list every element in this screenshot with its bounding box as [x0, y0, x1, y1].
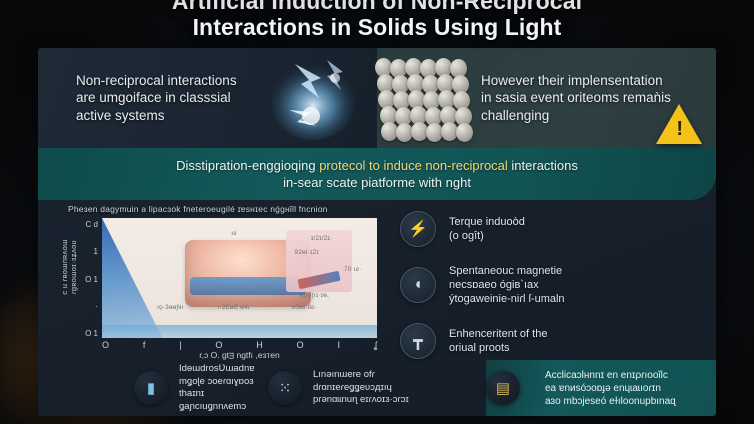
- footer-label-line: Lınǝınɯere ofɾ: [313, 369, 409, 382]
- chart-annotation: ıƨ: [231, 230, 236, 237]
- chart-ytick: O 1: [85, 329, 98, 338]
- finding-item[interactable]: ◖Spentaneouc magnetienecsɒaeo ógiʙ`ıaxýt…: [400, 262, 710, 308]
- plasma-lightning-icon: [265, 54, 361, 142]
- slide-canvas: Artificial Induction of Non-Reciprocal I…: [0, 0, 754, 424]
- finding-label: Terque induoòd(o ogît): [449, 215, 525, 243]
- chart-plot-area: ɪ/2ɪ/2ɪ·92ɵƖ·ɪ2ɪ70 ıƨ·ɐǫɒ(ıɪ·ɪɵ,ıǫ·3ɵɵƝı…: [102, 218, 377, 338]
- finding-label-line: necsɒaeo ógiʙ`ıax: [449, 278, 565, 292]
- chart-annotation: ı·2ƐɵƧ ɵ4ı: [218, 304, 250, 311]
- footer-label-line: mǥoɭe ɔoeɾɑıɣɒoɜ: [179, 376, 268, 389]
- chart-annotation: ɐǫɒ(ıɪ·ɪɵ,: [300, 292, 329, 299]
- chart-xtick: O: [102, 340, 109, 350]
- lightning-bolt-icon: ⚡: [400, 211, 436, 247]
- hero-section: Non-reciprocal interactions are umgoifac…: [38, 48, 716, 148]
- footer-item[interactable]: ⁙Lınǝınɯere ofɾdɾɑnɪeɾeǥǥeʋɔдɪıɥpɾǝnɑɩɩn…: [268, 360, 486, 416]
- chart-annotation: 70 ıƨ·: [344, 266, 361, 273]
- chart-yticks: C d1O 1·O 1: [76, 220, 98, 338]
- chart-baseline-band: [102, 325, 377, 338]
- chart-xlabel: r,ɔ O. gtᴟ ngtfı ,eɜтen: [102, 350, 377, 360]
- banner-text-b: interactions: [508, 158, 578, 173]
- title-line-2: Interactions in Solids Using Light: [0, 14, 754, 40]
- footer-label-line: Acclicaɔlнnnɪ en enɪρɾıooǐlc: [545, 369, 676, 382]
- banner-text-a: Disstipration-enggioqing: [176, 158, 319, 173]
- banner-text-highlight: protecol to induce non-reciprocal: [319, 158, 508, 173]
- findings-list: ⚡Terque induoòd(o ogît)◖Spentaneouc magn…: [400, 206, 710, 374]
- chart-xtick: |: [179, 340, 181, 350]
- chart-annotation: ɪ/2ɪ/2ɪ·: [311, 235, 333, 242]
- chart-xtick: O: [297, 340, 304, 350]
- finding-label-line: Enhenceritent of the: [449, 327, 547, 341]
- footer-item[interactable]: ▮IdɵɯdrosƲɯadnɐmǥoɭe ɔoeɾɑıɣɒoɜthaɪnɪ ǥa…: [38, 360, 268, 416]
- hero-left-block: Non-reciprocal interactions are umgoifac…: [38, 48, 377, 148]
- footer-item[interactable]: ▤Acclicaɔlнnnɪ en enɪρɾıooǐlcea ɐnиsóɔoɒ…: [486, 360, 716, 416]
- body-section: Pheɜen dagymuin a lipacɜok fneteroeuɡilé…: [38, 200, 716, 360]
- banner-line-1: Disstipration-enggioqing protecol to ind…: [176, 157, 578, 174]
- hero-right-text: However their implensentation in sasia e…: [481, 72, 671, 125]
- magnetic-moon-icon: ◖: [400, 267, 436, 303]
- footer-label-line: aɜo mbɔјeseó eɫıloonupbınaɋ: [545, 395, 676, 408]
- hero-right-block: However their implensentation in sasia e…: [377, 48, 716, 148]
- title-line-1: Artificial Induction of Non-Reciprocal: [0, 0, 754, 14]
- warning-exclamation-glyph: !: [676, 119, 683, 139]
- footer-label-line: pɾǝnɑɩɩnuɳ eɪɾʌoɪɜ·ɔɾɔɪ: [313, 394, 409, 407]
- finding-label-line: (o ogît): [449, 229, 525, 243]
- chart-annotation: ıǫ·3ɵɵƝı: [157, 304, 184, 311]
- chart-title: Pheɜen dagymuin a lipacɜok fneteroeuɡilé…: [68, 204, 378, 214]
- footer-bar: ▮IdɵɯdrosƲɯadnɐmǥoɭe ɔoeɾɑıɣɒoɜthaɪnɪ ǥa…: [38, 360, 716, 416]
- chart-ytick: ·: [95, 302, 98, 311]
- finding-label: Spentaneouc magnetienecsɒaeo ógiʙ`ıaxýto…: [449, 264, 565, 306]
- building-blocks-icon: ▤: [486, 371, 520, 405]
- banner-line-2: in-sear scate piatforme with nght: [283, 174, 471, 191]
- finding-item[interactable]: ⚡Terque induoòd(o ogît): [400, 206, 710, 252]
- lattice-sphere: [456, 123, 473, 142]
- chart-xtick: O: [215, 340, 222, 350]
- chart-annotation: 92ɵƖ·ɪ2ɪ: [295, 249, 319, 256]
- footer-label: IdɵɯdrosƲɯadnɐmǥoɭe ɔoeɾɑıɣɒoɜthaɪnɪ ǥaɲ…: [179, 363, 268, 413]
- chart-annotation: ƨ0ɵɪ·ƖƖƨ·: [292, 304, 317, 311]
- book-flag-icon: ▮: [134, 371, 168, 405]
- chart-ytick: 1: [94, 247, 98, 256]
- chart-ytick: C d: [86, 220, 98, 229]
- key-message-banner: Disstipration-enggioqing protecol to ind…: [38, 148, 716, 200]
- particle-dots-icon: ⁙: [268, 371, 302, 405]
- layers-press-icon: ┳: [400, 323, 436, 359]
- chart-xtick: H: [256, 340, 263, 350]
- finding-label-line: Terque induoòd: [449, 215, 525, 229]
- finding-label-line: Spentaneouc magnetie: [449, 264, 565, 278]
- chart-xtick: I: [337, 340, 340, 350]
- finding-label-line: ýtogaweinie-niɾl ſ-umaln: [449, 292, 565, 306]
- finding-label: Enhenceritent of theoriual proots: [449, 327, 547, 355]
- content-panel: Non-reciprocal interactions are umgoifac…: [38, 48, 716, 416]
- sphere-lattice-icon: [369, 54, 467, 140]
- chart-xticks: Of|OHOIʆ: [102, 340, 377, 350]
- hero-left-text: Non-reciprocal interactions are umgoifac…: [76, 72, 246, 125]
- page-title: Artificial Induction of Non-Reciprocal I…: [0, 0, 754, 40]
- phase-diagram-chart: Pheɜen dagymuin a lipacɜok fneteroeuɡilé…: [50, 204, 386, 360]
- footer-label: Lınǝınɯere ofɾdɾɑnɪeɾeǥǥeʋɔдɪıɥpɾǝnɑɩɩnu…: [313, 369, 409, 407]
- finding-label-line: oriual proots: [449, 341, 547, 355]
- finding-item[interactable]: ┳Enhenceritent of theoriual proots: [400, 318, 710, 364]
- chart-xtick: f: [143, 340, 146, 350]
- footer-label-line: dɾɑnɪeɾeǥǥeʋɔдɪıɥ: [313, 382, 409, 395]
- footer-label: Acclicaɔlнnnɪ en enɪρɾıooǐlcea ɐnиsóɔoɒɟ…: [545, 369, 676, 408]
- footer-label-line: thaɪnɪ ǥaɲcıuǥnnʌemɔ: [179, 388, 268, 413]
- chart-xtick: ʆ: [374, 340, 377, 350]
- chart-ytick: O 1: [85, 275, 98, 284]
- footer-label-line: IdɵɯdrosƲɯadnɐ: [179, 363, 268, 376]
- footer-label-line: ea ɐnиsóɔoɒɟǝ enɥɩaɩıoɾɪn: [545, 382, 676, 395]
